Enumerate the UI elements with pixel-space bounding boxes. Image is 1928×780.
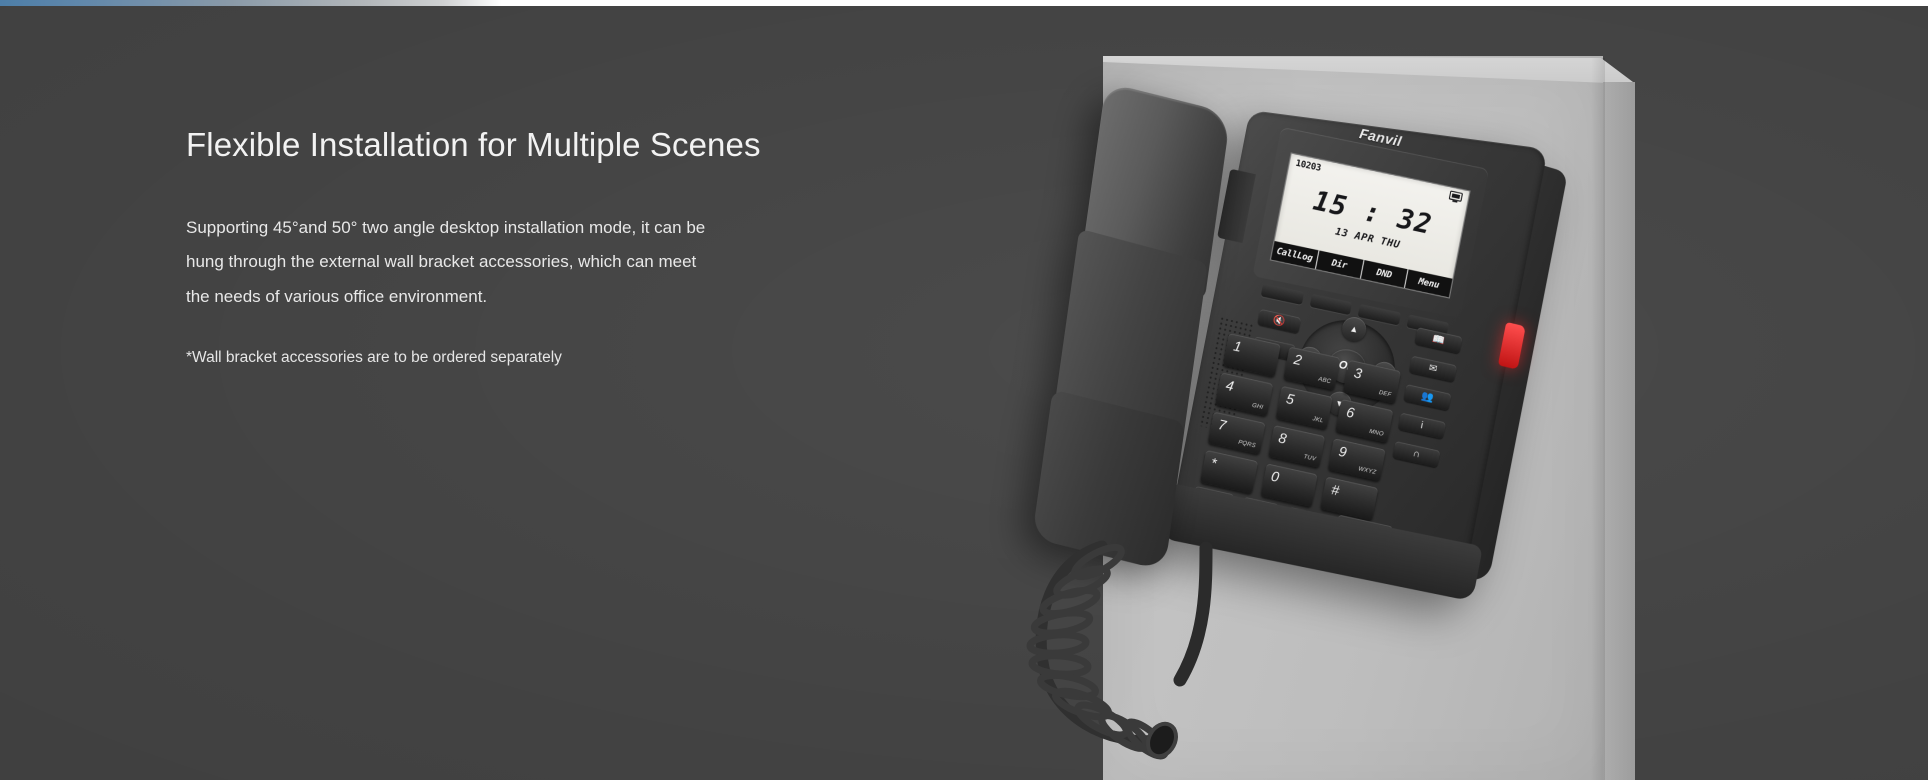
key-4-letters: GHI xyxy=(1252,402,1264,410)
top-accent-strip xyxy=(0,0,1928,6)
key-0-digit: 0 xyxy=(1270,468,1281,485)
copy-block: Flexible Installation for Multiple Scene… xyxy=(186,126,806,370)
softkey-button-1[interactable] xyxy=(1261,283,1304,304)
key-3-digit: 3 xyxy=(1353,364,1364,381)
key-6-digit: 6 xyxy=(1345,403,1356,420)
key-7-digit: 7 xyxy=(1217,416,1228,433)
key-8-letters: TUV xyxy=(1303,454,1316,463)
key-5-letters: JKL xyxy=(1312,416,1324,424)
network-icon xyxy=(1448,190,1463,204)
promo-banner: Fanvil 10203 15 : 32 13 APR THU CallLog … xyxy=(0,0,1928,780)
key-3-letters: DEF xyxy=(1378,390,1391,399)
key-7[interactable]: 7PQRS xyxy=(1208,411,1266,455)
page-title: Flexible Installation for Multiple Scene… xyxy=(186,126,806,165)
softkey-button-2[interactable] xyxy=(1309,294,1352,315)
key-8-digit: 8 xyxy=(1277,429,1288,446)
key-2-digit: 2 xyxy=(1293,351,1304,368)
wall-plate-shadow xyxy=(1591,58,1605,780)
headset-key[interactable]: ∩ xyxy=(1392,441,1440,468)
body-paragraph: Supporting 45°and 50° two angle desktop … xyxy=(186,211,706,315)
product-scene: Fanvil 10203 15 : 32 13 APR THU CallLog … xyxy=(0,0,1928,780)
wall-plate-side-bevel xyxy=(1603,82,1635,780)
handset-cord xyxy=(1010,540,1240,780)
message-key[interactable]: ✉ xyxy=(1409,356,1457,383)
phonebook-key[interactable]: 📖 xyxy=(1414,327,1462,354)
key-6[interactable]: 6MNO xyxy=(1336,399,1394,443)
key-6-letters: MNO xyxy=(1369,428,1384,437)
key-star-digit: * xyxy=(1210,455,1218,472)
conference-key[interactable]: 👥 xyxy=(1403,384,1451,411)
key-9-letters: WXYZ xyxy=(1358,467,1377,477)
transfer-key[interactable]: i xyxy=(1398,413,1446,440)
key-5[interactable]: 5JKL xyxy=(1275,385,1333,429)
footnote: *Wall bracket accessories are to be orde… xyxy=(186,346,806,369)
key-4[interactable]: 4GHI xyxy=(1215,372,1273,416)
key-1-digit: 1 xyxy=(1232,338,1243,355)
mute-key[interactable]: 🔇 xyxy=(1257,309,1301,334)
lcd-extension-number: 10203 xyxy=(1295,159,1322,174)
key-hash-digit: # xyxy=(1330,481,1341,498)
key-9-digit: 9 xyxy=(1338,442,1349,459)
key-4-digit: 4 xyxy=(1225,377,1236,394)
key-8[interactable]: 8TUV xyxy=(1268,424,1326,468)
key-5-digit: 5 xyxy=(1285,390,1296,407)
key-9[interactable]: 9WXYZ xyxy=(1328,438,1386,482)
key-7-letters: PQRS xyxy=(1238,440,1257,450)
key-2-letters: ABC xyxy=(1318,376,1332,385)
